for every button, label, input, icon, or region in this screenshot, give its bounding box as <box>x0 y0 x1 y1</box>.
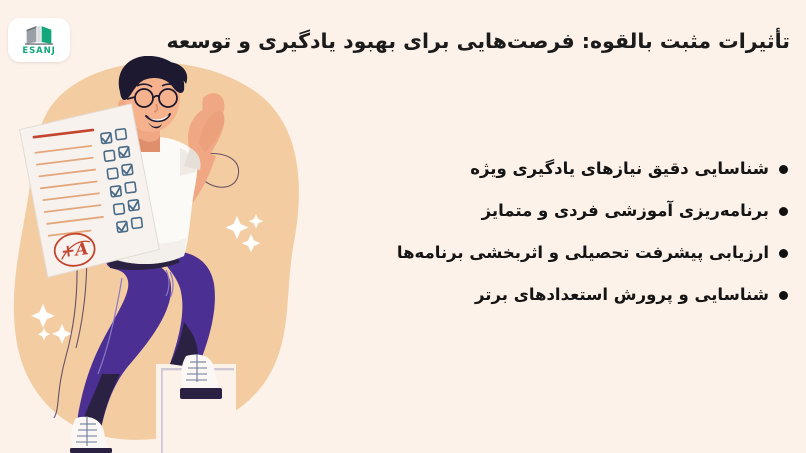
logo-wordmark: ESANJ <box>22 47 55 56</box>
bullet-label: شناسایی و پرورش استعدادهای برتر <box>475 285 769 305</box>
bullet-label: شناسایی دقیق نیازهای یادگیری ویژه <box>470 159 769 179</box>
illustration: A+ <box>0 56 324 453</box>
list-item: برنامه‌ریزی آموزشی فردی و متمایز <box>358 190 788 232</box>
slide-canvas: ESANJ تأثیرات مثبت بالقوه: فرصت‌هایی برا… <box>0 0 806 453</box>
svg-text:A+: A+ <box>60 239 90 262</box>
bullet-label: ارزیابی پیشرفت تحصیلی و اثربخشی برنامه‌ه… <box>397 243 769 263</box>
list-item: شناسایی و پرورش استعدادهای برتر <box>358 274 788 316</box>
bullet-dot-icon <box>779 165 788 174</box>
open-book-icon <box>24 24 54 46</box>
bullet-dot-icon <box>779 249 788 258</box>
bullet-dot-icon <box>779 207 788 216</box>
list-item: ارزیابی پیشرفت تحصیلی و اثربخشی برنامه‌ه… <box>358 232 788 274</box>
bullet-list: شناسایی دقیق نیازهای یادگیری ویژه برنامه… <box>358 148 788 316</box>
bullet-dot-icon <box>779 291 788 300</box>
bullet-label: برنامه‌ریزی آموزشی فردی و متمایز <box>482 201 769 221</box>
list-item: شناسایی دقیق نیازهای یادگیری ویژه <box>358 148 788 190</box>
